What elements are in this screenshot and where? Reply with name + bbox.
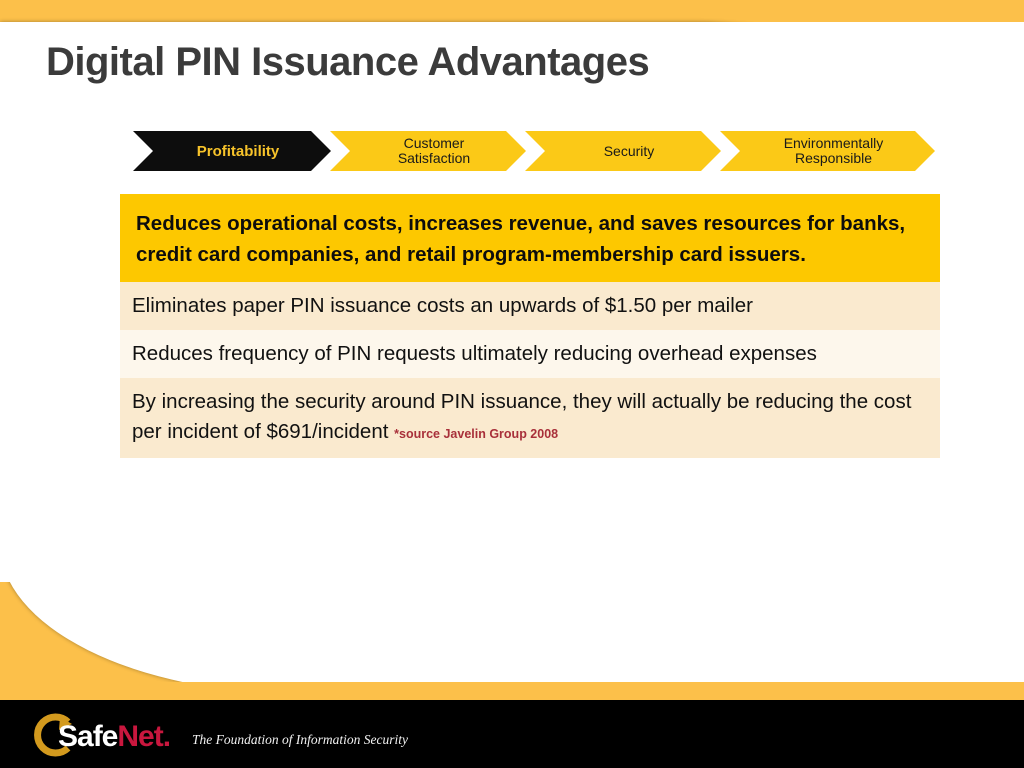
highlight-band: Reduces operational costs, increases rev…	[120, 194, 940, 282]
safenet-word-dot: .	[163, 720, 170, 753]
bullet-row-3-source: *source Javelin Group 2008	[394, 427, 558, 441]
chevron-label-line1: Environmentally	[784, 135, 884, 151]
chevron-label-line2: Responsible	[795, 150, 872, 166]
chevron-item-security[interactable]: Security	[525, 131, 721, 171]
chevron-label-environmentally-responsible: Environmentally Responsible	[784, 136, 884, 166]
slide-canvas: Digital PIN Issuance Advantages Profitab…	[0, 0, 1024, 768]
chevron-label-security: Security	[604, 144, 655, 159]
bullet-row-3: By increasing the security around PIN is…	[120, 378, 940, 458]
content-card: Reduces operational costs, increases rev…	[120, 194, 940, 458]
page-title: Digital PIN Issuance Advantages	[46, 40, 649, 85]
safenet-tagline: The Foundation of Information Security	[192, 732, 408, 748]
chevron-label-line1: Customer	[404, 135, 465, 151]
safenet-word-safe: Safe	[58, 720, 117, 753]
chevron-label-line2: Satisfaction	[398, 150, 470, 166]
safenet-word-net: Net	[117, 720, 162, 753]
chevron-item-profitability[interactable]: Profitability	[133, 131, 331, 171]
bullet-row-1: Eliminates paper PIN issuance costs an u…	[120, 282, 940, 330]
chevron-label-customer-satisfaction: Customer Satisfaction	[398, 136, 470, 166]
footer-orange-band	[0, 682, 1024, 700]
bullet-row-1-text: Eliminates paper PIN issuance costs an u…	[132, 294, 753, 317]
safenet-logo: SafeNet. The Foundation of Information S…	[24, 708, 424, 760]
chevron-label-profitability: Profitability	[197, 144, 280, 159]
bullet-row-2-text: Reduces frequency of PIN requests ultima…	[132, 342, 817, 365]
highlight-text: Reduces operational costs, increases rev…	[136, 208, 924, 270]
bullet-row-2: Reduces frequency of PIN requests ultima…	[120, 330, 940, 378]
chevron-item-customer-satisfaction[interactable]: Customer Satisfaction	[330, 131, 526, 171]
safenet-wordmark: SafeNet.	[58, 720, 170, 754]
chevron-nav: Profitability Customer Satisfaction Secu…	[133, 131, 934, 171]
chevron-item-environmentally-responsible[interactable]: Environmentally Responsible	[720, 131, 935, 171]
